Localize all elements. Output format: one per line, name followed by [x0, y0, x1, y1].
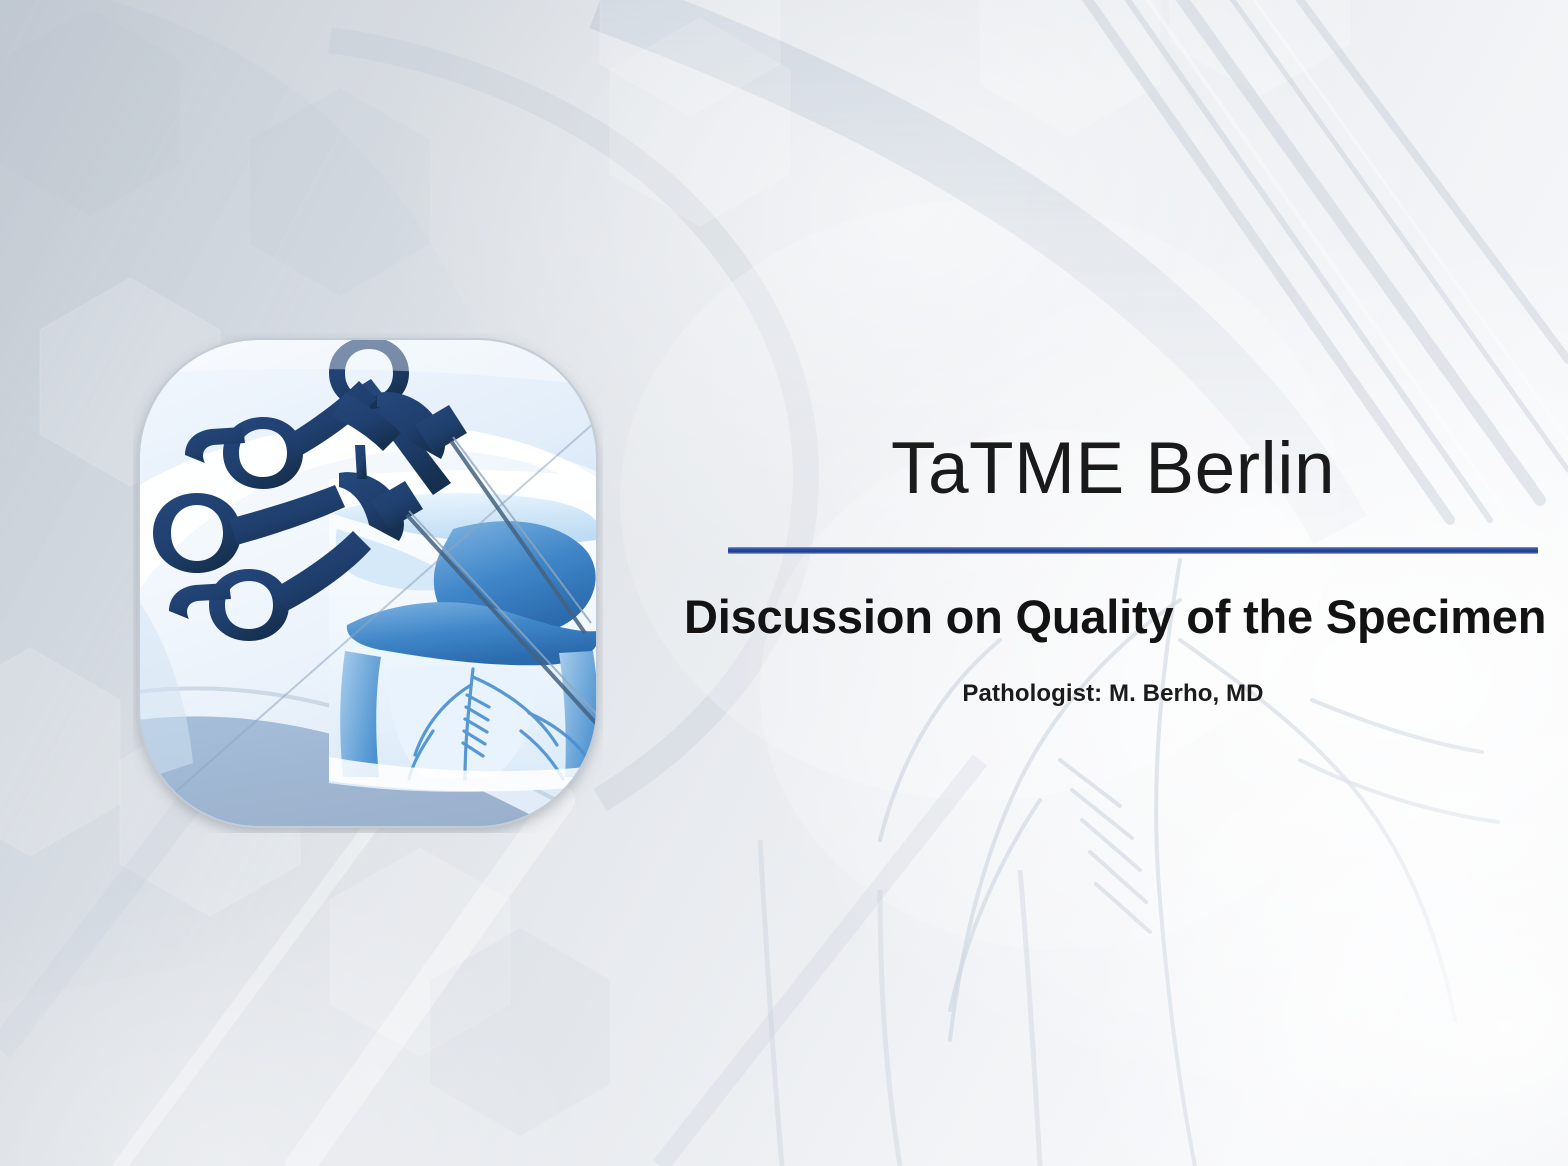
presentation-slide: TaTME Berlin Discussion on Quality of th… — [0, 0, 1568, 1166]
presenter-credit: Pathologist: M. Berho, MD — [690, 680, 1536, 708]
tatme-logo — [133, 333, 603, 833]
slide-subtitle: Discussion on Quality of the Specimen — [684, 592, 1546, 641]
title-block: TaTME Berlin Discussion on Quality of th… — [690, 432, 1568, 732]
page-title: TaTME Berlin — [690, 432, 1536, 505]
title-divider-rule — [728, 547, 1538, 554]
